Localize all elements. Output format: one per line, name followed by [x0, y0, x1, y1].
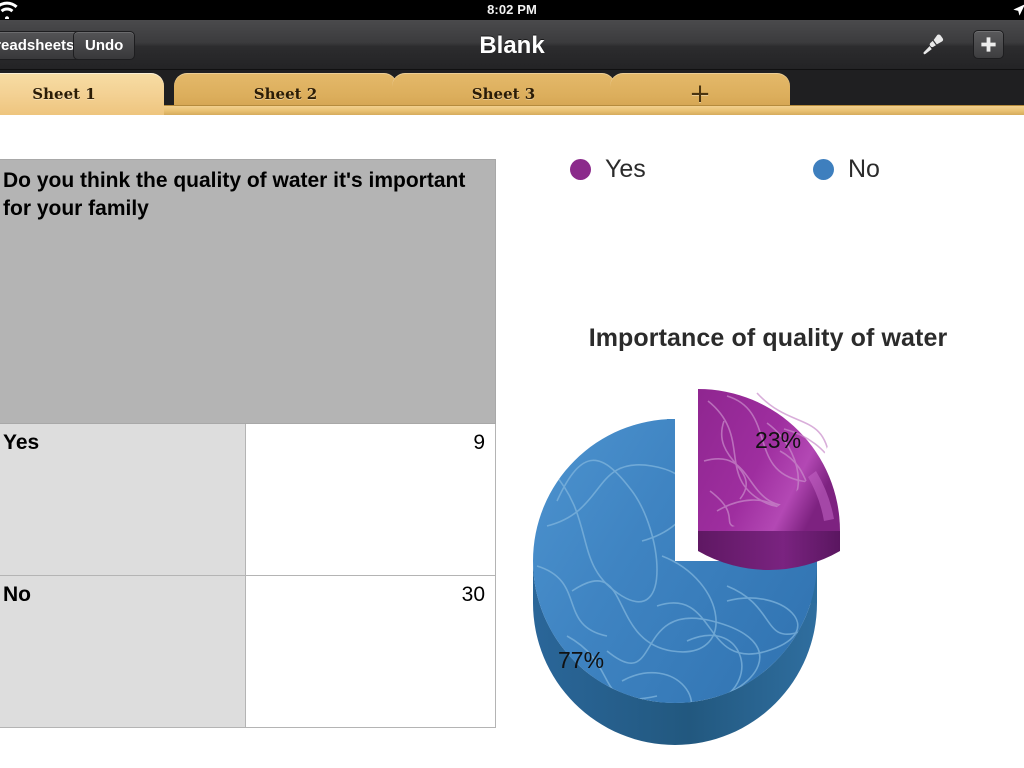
table-row: No 30 — [0, 576, 496, 728]
status-bar: 8:02 PM 8 — [0, 0, 1024, 20]
table-cell-label-no[interactable]: No — [0, 576, 245, 728]
legend-item-yes[interactable]: Yes — [570, 155, 646, 184]
sheet-canvas: Do you think the quality of water it's i… — [0, 115, 1024, 768]
table-header-cell[interactable]: Do you think the quality of water it's i… — [0, 160, 496, 424]
data-table[interactable]: Do you think the quality of water it's i… — [0, 159, 496, 728]
table-header-row: Do you think the quality of water it's i… — [0, 160, 496, 424]
status-bar-clock: 8:02 PM — [0, 2, 1024, 17]
pie-slice-yes[interactable] — [698, 389, 840, 570]
legend-label-no: No — [848, 155, 880, 184]
pie-chart[interactable]: Yes No Importance of quality of water — [512, 115, 1024, 768]
legend-swatch-no — [813, 159, 834, 180]
sheet-tab-bar: Sheet 2 Sheet 3 + Sheet 1 — [0, 70, 1024, 115]
table-row: Yes 9 — [0, 424, 496, 576]
legend-item-no[interactable]: No — [813, 155, 880, 184]
chart-title: Importance of quality of water — [512, 324, 1024, 353]
status-bar-right: 8 — [1012, 0, 1024, 20]
table-cell-value-no[interactable]: 30 — [245, 576, 496, 728]
table-cell-label-yes[interactable]: Yes — [0, 424, 245, 576]
location-arrow-icon — [1012, 3, 1024, 17]
chart-legend: Yes No — [560, 155, 1020, 191]
document-title: Blank — [0, 32, 1024, 60]
pie-label-no: 77% — [558, 647, 604, 673]
add-object-button[interactable] — [973, 30, 1004, 59]
app-root: 8:02 PM 8 Spreadsheets Undo Blank — [0, 0, 1024, 768]
toolbar: Spreadsheets Undo Blank — [0, 20, 1024, 70]
legend-label-yes: Yes — [605, 155, 646, 184]
legend-swatch-yes — [570, 159, 591, 180]
table-cell-value-yes[interactable]: 9 — [245, 424, 496, 576]
paintbrush-icon[interactable] — [918, 30, 950, 60]
sheet-tab-sheet-1[interactable]: Sheet 1 — [0, 73, 164, 115]
pie-graphic[interactable]: 23% 77% — [512, 351, 1024, 768]
pie-label-yes: 23% — [755, 427, 801, 453]
